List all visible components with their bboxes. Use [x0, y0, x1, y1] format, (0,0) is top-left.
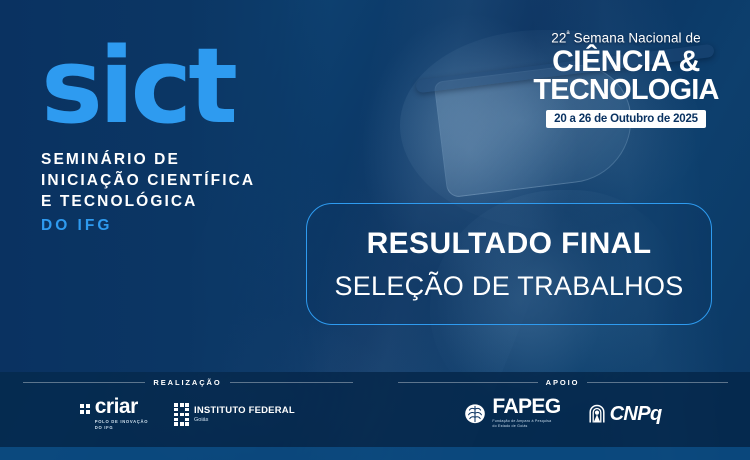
fapeg-logo: FAPEG Fundação de Amparo à Pesquisa do E…	[463, 398, 560, 430]
footer-realizacao-logos: criar POLO DE INOVAÇÃO DO IFG	[80, 398, 295, 431]
criar-tagline-line2: DO IFG	[95, 425, 114, 430]
divider-rule-right	[587, 382, 727, 383]
event-badge-line3: TECNOLOGIA	[530, 76, 722, 105]
criar-tagline-line1: POLO DE INOVAÇÃO	[95, 419, 148, 424]
result-title: RESULTADO FINAL	[367, 229, 652, 259]
sict-subtitle: SEMINÁRIO DE INICIAÇÃO CIENTÍFICA E TECN…	[41, 150, 255, 237]
footer-bar: REALIZAÇÃO criar POLO DE INOVAÇÃO DO IFG	[0, 372, 750, 447]
footer-apoio-label: APOIO	[538, 378, 588, 387]
sict-wordmark: sict	[41, 45, 255, 128]
cnpq-wordmark: CNPq	[610, 404, 662, 424]
instituto-federal-state: Goiás	[194, 418, 295, 424]
event-badge-line2: CIÊNCIA &	[530, 47, 722, 76]
criar-logo: criar POLO DE INOVAÇÃO DO IFG	[80, 398, 148, 431]
event-edition-number: 22	[551, 31, 566, 46]
footer-apoio-heading: APOIO	[398, 378, 728, 387]
sict-logo-block: sict SEMINÁRIO DE INICIAÇÃO CIENTÍFICA E…	[41, 45, 255, 237]
footer-realizacao-heading: REALIZAÇÃO	[23, 378, 353, 387]
event-badge: 22ª Semana Nacional de CIÊNCIA & TECNOLO…	[530, 30, 722, 128]
criar-wordmark: criar	[95, 398, 148, 417]
divider-rule-left	[23, 382, 146, 383]
fapeg-brain-icon	[463, 403, 487, 425]
fapeg-tagline: Fundação de Amparo à Pesquisa do Estado …	[492, 419, 560, 430]
fapeg-tagline-line2: do Estado de Goiás	[492, 424, 527, 428]
divider-rule-left	[398, 382, 538, 383]
event-badge-date: 20 a 26 de Outubro de 2025	[546, 110, 706, 128]
event-badge-subtitle: Semana Nacional de	[574, 31, 701, 46]
criar-tagline: POLO DE INOVAÇÃO DO IFG	[95, 419, 148, 431]
sict-subtitle-line3: E TECNOLÓGICA	[41, 193, 197, 210]
event-badge-line1: 22ª Semana Nacional de	[530, 30, 722, 45]
footer-bottom-strip	[0, 447, 750, 460]
instituto-federal-wordmark: INSTITUTO FEDERAL	[194, 406, 295, 416]
footer-realizacao-column: REALIZAÇÃO criar POLO DE INOVAÇÃO DO IFG	[0, 372, 375, 447]
event-banner: 22ª Semana Nacional de CIÊNCIA & TECNOLO…	[0, 0, 750, 460]
fapeg-tagline-line1: Fundação de Amparo à Pesquisa	[492, 419, 551, 423]
result-announcement-box: RESULTADO FINAL SELEÇÃO DE TRABALHOS	[306, 203, 712, 325]
sict-subtitle-line4: DO IFG	[41, 216, 255, 237]
event-edition-ordinal: ª	[566, 29, 569, 39]
cnpq-arch-icon	[587, 404, 607, 424]
footer-apoio-column: APOIO	[375, 372, 750, 447]
instituto-federal-grid-icon	[174, 403, 189, 426]
footer-realizacao-label: REALIZAÇÃO	[145, 378, 229, 387]
fapeg-wordmark: FAPEG	[492, 398, 560, 417]
sict-subtitle-line2: INICIAÇÃO CIENTÍFICA	[41, 172, 255, 189]
sict-subtitle-line1: SEMINÁRIO DE	[41, 151, 180, 168]
footer-apoio-logos: FAPEG Fundação de Amparo à Pesquisa do E…	[463, 398, 661, 430]
result-subtitle: SELEÇÃO DE TRABALHOS	[334, 273, 683, 300]
cnpq-logo: CNPq	[587, 404, 662, 424]
instituto-federal-logo: INSTITUTO FEDERAL Goiás	[174, 403, 295, 426]
divider-rule-right	[230, 382, 353, 383]
criar-dots-icon	[80, 404, 90, 414]
